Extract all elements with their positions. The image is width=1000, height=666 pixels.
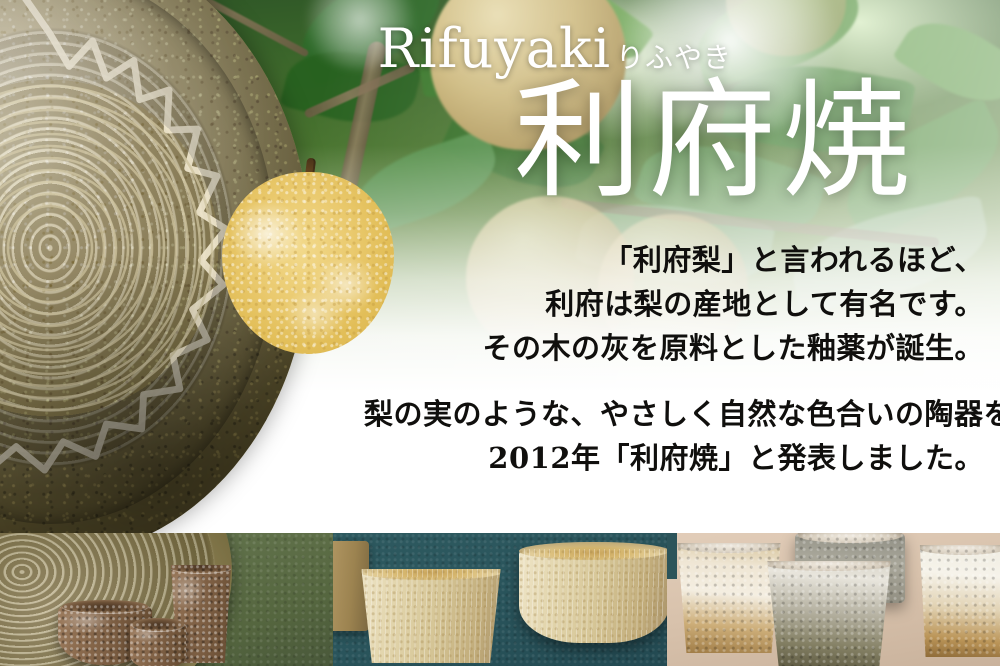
pottery-photo-cream-bowls	[333, 533, 667, 666]
dark-edge-strip	[667, 533, 677, 579]
pottery-photo-strip	[0, 533, 1000, 666]
cup-texture	[130, 623, 186, 666]
gray-vessel-center	[759, 561, 899, 666]
brown-small-cup	[130, 623, 186, 666]
description-text: 「利府梨」と言われるほど、 利府は梨の産地として有名です。 その木の灰を原料とし…	[364, 238, 984, 480]
brand-kanji-title: 利府焼	[514, 78, 916, 206]
paragraph-1-line-3: その木の灰を原料とした釉薬が誕生。	[364, 326, 984, 370]
vessel-texture	[673, 543, 785, 653]
bowl-texture	[357, 569, 505, 663]
vessel-texture	[915, 545, 1000, 657]
cream-bowl-back	[519, 549, 667, 643]
paragraph-2-line-1: 梨の実のような、やさしく自然な色合いの陶器を、	[364, 392, 984, 436]
bowl-texture	[519, 549, 667, 643]
paragraph-2-line-2: 2012年「利府焼」と発表しました。	[364, 436, 984, 480]
cream-vessel-right	[915, 545, 1000, 657]
paragraph-1-line-2: 利府は梨の産地として有名です。	[364, 282, 984, 326]
cream-bowl-front	[357, 569, 505, 663]
paragraph-1-line-1: 「利府梨」と言われるほど、	[364, 238, 984, 282]
rifuyaki-banner: Rifuyaki りふやき 利府焼 「利府梨」と言われるほど、 利府は梨の産地と…	[0, 0, 1000, 666]
vessel-texture	[759, 561, 899, 666]
pottery-photo-brown-cups	[0, 533, 333, 666]
cream-vessel-left	[673, 543, 785, 653]
pottery-photo-glazed-vessels	[667, 533, 1000, 666]
